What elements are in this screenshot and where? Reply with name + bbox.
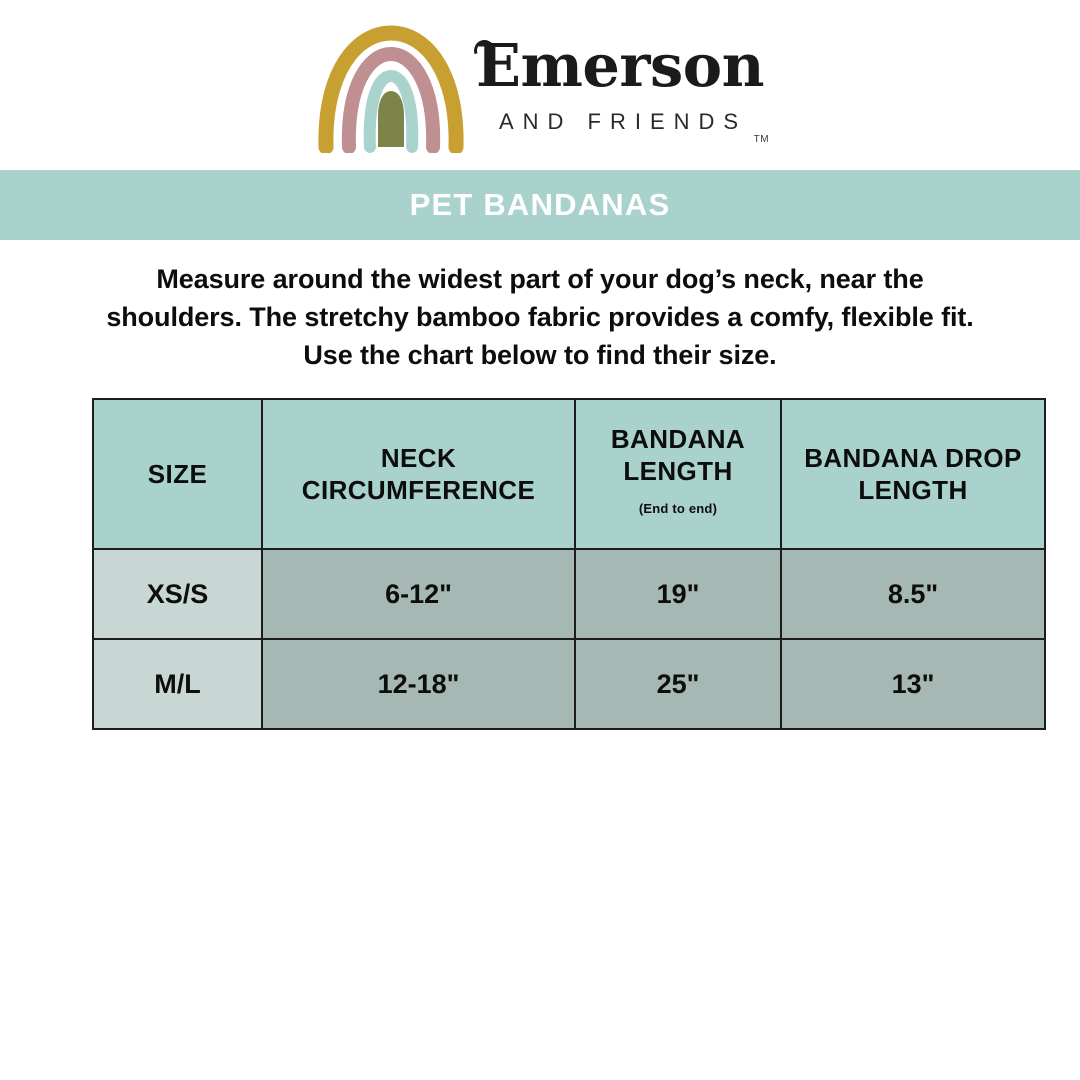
cell-bandana-drop-length: 13"	[781, 639, 1045, 729]
brand-tagline: AND FRIENDS TM	[493, 109, 747, 135]
size-chart-container: SIZE NECK CIRCUMFERENCE BANDANA LENGTH (…	[92, 398, 988, 730]
cell-bandana-length: 19"	[575, 549, 781, 639]
brand-name: Emerson	[476, 36, 764, 95]
column-header-bandana-length: BANDANA LENGTH (End to end)	[575, 399, 781, 549]
cell-bandana-drop-length: 8.5"	[781, 549, 1045, 639]
banner-title: PET BANDANAS	[410, 187, 671, 223]
table-header-row: SIZE NECK CIRCUMFERENCE BANDANA LENGTH (…	[93, 399, 1045, 549]
cell-neck-circumference: 12-18"	[262, 639, 575, 729]
column-header-bandana-drop-length: BANDANA DROP LENGTH	[781, 399, 1045, 549]
brand-tagline-text: AND FRIENDS	[499, 109, 747, 134]
measuring-instructions: Measure around the widest part of your d…	[100, 260, 980, 374]
table-row: XS/S 6-12" 19" 8.5"	[93, 549, 1045, 639]
column-header-neck-circumference: NECK CIRCUMFERENCE	[262, 399, 575, 549]
column-header-bandana-length-note: (End to end)	[582, 493, 774, 525]
table-header: SIZE NECK CIRCUMFERENCE BANDANA LENGTH (…	[93, 399, 1045, 549]
table-row: M/L 12-18" 25" 13"	[93, 639, 1045, 729]
cell-size: M/L	[93, 639, 262, 729]
cell-size: XS/S	[93, 549, 262, 639]
column-header-bandana-length-label: BANDANA LENGTH	[611, 424, 745, 486]
brand-name-text: Emerson	[476, 31, 764, 100]
rainbow-icon	[316, 21, 466, 153]
cell-bandana-length: 25"	[575, 639, 781, 729]
section-banner: PET BANDANAS	[0, 170, 1080, 240]
brand-wordmark: Emerson AND FRIENDS TM	[476, 36, 764, 139]
size-chart-table: SIZE NECK CIRCUMFERENCE BANDANA LENGTH (…	[92, 398, 1046, 730]
column-header-size-label: SIZE	[148, 459, 207, 489]
column-header-size: SIZE	[93, 399, 262, 549]
table-body: XS/S 6-12" 19" 8.5" M/L 12-18" 25" 13"	[93, 549, 1045, 729]
brand-logo-header: Emerson AND FRIENDS TM	[0, 0, 1080, 170]
cell-neck-circumference: 6-12"	[262, 549, 575, 639]
column-header-neck-circumference-label: NECK CIRCUMFERENCE	[302, 443, 535, 505]
trademark-symbol: TM	[754, 134, 769, 145]
column-header-bandana-drop-length-label: BANDANA DROP LENGTH	[804, 443, 1022, 505]
